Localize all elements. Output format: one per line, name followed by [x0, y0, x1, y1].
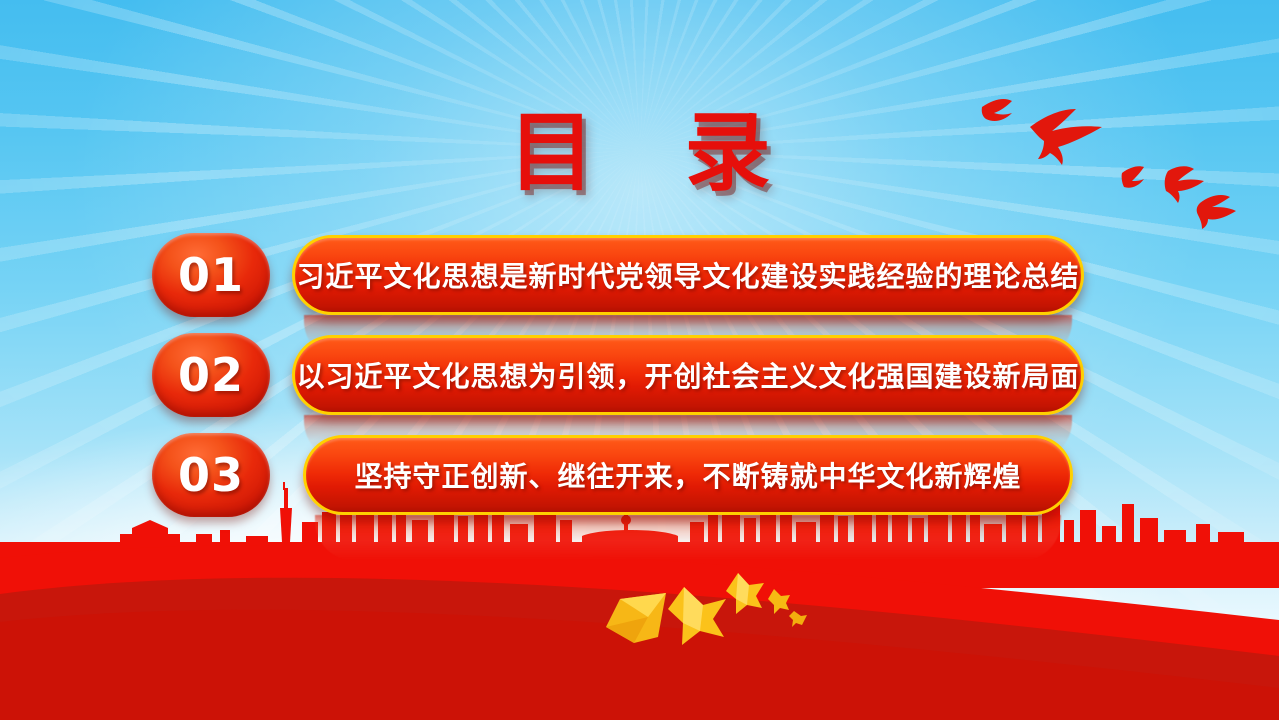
item-pill[interactable]: 坚持守正创新、继往开来，不断铸就中华文化新辉煌	[303, 435, 1073, 515]
list-item[interactable]: 03 坚持守正创新、继往开来，不断铸就中华文化新辉煌	[0, 433, 1279, 533]
item-label: 以习近平文化思想为引领，开创社会主义文化强国建设新局面	[296, 355, 1079, 395]
item-pill[interactable]: 习近平文化思想是新时代党领导文化建设实践经验的理论总结	[292, 235, 1084, 315]
contents-list: 01 习近平文化思想是新时代党领导文化建设实践经验的理论总结 02 以习近平文化…	[0, 233, 1279, 533]
item-number-badge: 02	[152, 333, 270, 417]
item-number: 02	[178, 348, 244, 402]
item-number: 03	[178, 448, 244, 502]
item-pill[interactable]: 以习近平文化思想为引领，开创社会主义文化强国建设新局面	[292, 335, 1084, 415]
gold-stars-icon	[600, 565, 810, 655]
presentation-slide: 目 录 01 习近平文化思想是新时代党领导文化建设实践经验的理论总结 02 以习…	[0, 0, 1279, 720]
list-item[interactable]: 02 以习近平文化思想为引领，开创社会主义文化强国建设新局面	[0, 333, 1279, 433]
slide-title-wrap: 目 录	[0, 110, 1279, 196]
item-number-badge: 03	[152, 433, 270, 517]
page-title: 目 录	[479, 110, 801, 196]
list-item[interactable]: 01 习近平文化思想是新时代党领导文化建设实践经验的理论总结	[0, 233, 1279, 333]
item-label: 坚持守正创新、继往开来，不断铸就中华文化新辉煌	[354, 455, 1021, 495]
pill-reflection	[315, 515, 1061, 561]
item-label: 习近平文化思想是新时代党领导文化建设实践经验的理论总结	[296, 255, 1079, 295]
item-number: 01	[178, 248, 244, 302]
item-number-badge: 01	[152, 233, 270, 317]
